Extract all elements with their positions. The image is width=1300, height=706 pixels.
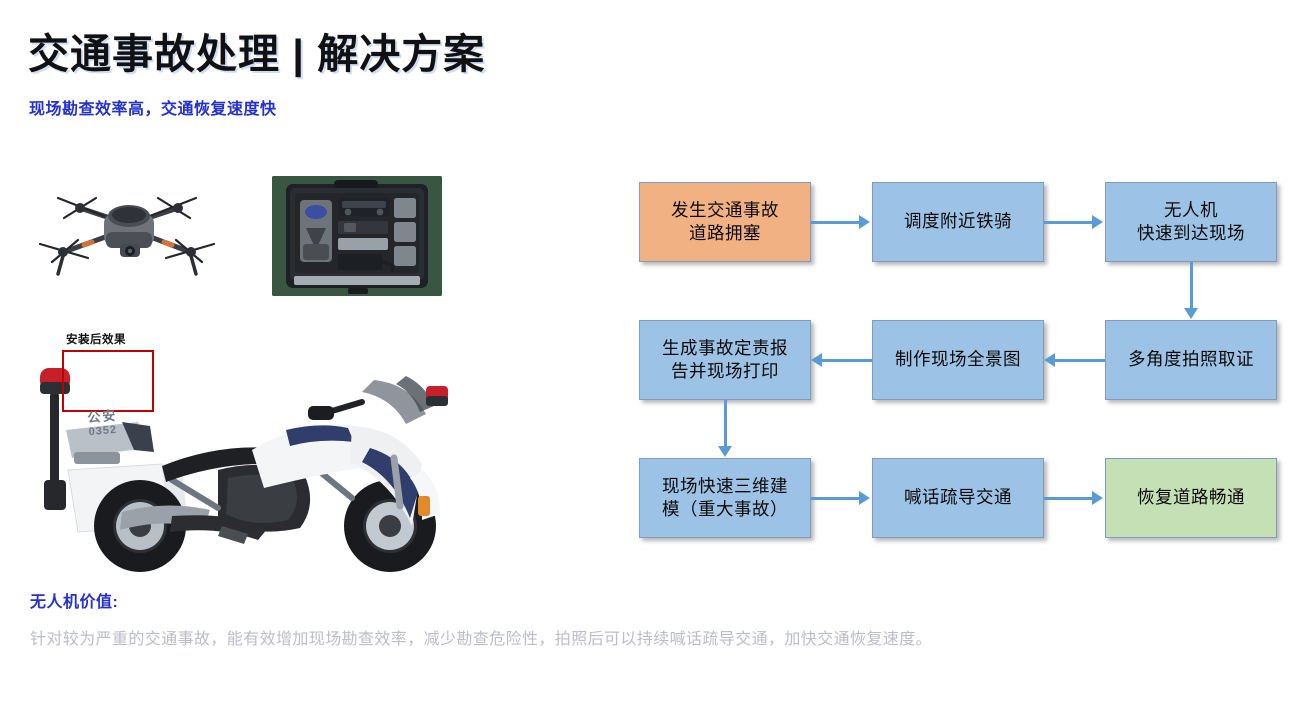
flow-node-n1-line1: 发生交通事故 <box>671 199 779 222</box>
page-subtitle: 现场勘查效率高，交通恢复速度快 <box>29 95 277 119</box>
flow-node-n6-line2: 告并现场打印 <box>662 360 788 383</box>
slide-root: 交通事故处理 | 解决方案 现场勘查效率高，交通恢复速度快 <box>0 0 1300 706</box>
flow-arrow-n6-n7 <box>718 400 732 458</box>
install-highlight-box <box>62 350 154 412</box>
flow-node-n8-line1: 喊话疏导交通 <box>904 486 1012 509</box>
flow-node-n3-line2: 快速到达现场 <box>1137 222 1245 245</box>
flow-arrow-n7-n8 <box>811 491 872 505</box>
drone-quadcopter-icon <box>30 178 230 288</box>
flow-node-n9-line1: 恢复道路畅通 <box>1137 486 1245 509</box>
flow-node-n5[interactable]: 制作现场全景图 <box>872 320 1044 400</box>
install-effect-label: 安装后效果 <box>66 331 126 347</box>
flow-node-n4[interactable]: 多角度拍照取证 <box>1105 320 1277 400</box>
flow-arrow-n3-n4 <box>1184 262 1198 320</box>
flow-node-n1-line2: 道路拥塞 <box>671 222 779 245</box>
flow-node-n7[interactable]: 现场快速三维建 模（重大事故） <box>639 458 811 538</box>
process-flowchart: 发生交通事故 道路拥塞 调度附近铁骑 无人机 快速到达现场 <box>630 165 1290 540</box>
flow-node-n3-line1: 无人机 <box>1137 199 1245 222</box>
flow-node-n2-line1: 调度附近铁骑 <box>904 210 1012 233</box>
motorcycle-unit-number: 0352 <box>88 424 119 439</box>
flow-arrow-n5-n6 <box>811 353 872 367</box>
page-title: 交通事故处理 | 解决方案 <box>28 20 485 80</box>
flow-node-n7-line2: 模（重大事故） <box>662 498 788 521</box>
flow-node-n6[interactable]: 生成事故定责报 告并现场打印 <box>639 320 811 400</box>
flow-node-n8[interactable]: 喊话疏导交通 <box>872 458 1044 538</box>
flow-node-n9[interactable]: 恢复道路畅通 <box>1105 458 1277 538</box>
flow-arrow-n1-n2 <box>811 215 872 229</box>
flow-arrow-n2-n3 <box>1044 215 1105 229</box>
flow-node-n4-line1: 多角度拍照取证 <box>1128 348 1254 371</box>
flow-node-n5-line1: 制作现场全景图 <box>895 348 1021 371</box>
flow-arrow-n4-n5 <box>1044 353 1105 367</box>
flow-node-n3[interactable]: 无人机 快速到达现场 <box>1105 182 1277 262</box>
flow-node-n6-line1: 生成事故定责报 <box>662 337 788 360</box>
flow-arrow-n8-n9 <box>1044 491 1105 505</box>
drone-hard-case-icon <box>272 176 442 296</box>
flow-node-n1[interactable]: 发生交通事故 道路拥塞 <box>639 182 811 262</box>
drone-photo <box>30 178 230 288</box>
drone-value-body: 针对较为严重的交通事故，能有效增加现场勘查效率，减少勘查危险性，拍照后可以持续喊… <box>30 625 1275 655</box>
motorcycle-unit-marking: 公安 0352 <box>87 409 119 439</box>
flow-node-n2[interactable]: 调度附近铁骑 <box>872 182 1044 262</box>
drone-case-photo <box>272 176 442 296</box>
drone-value-heading: 无人机价值: <box>30 588 118 612</box>
flow-node-n7-line1: 现场快速三维建 <box>662 475 788 498</box>
